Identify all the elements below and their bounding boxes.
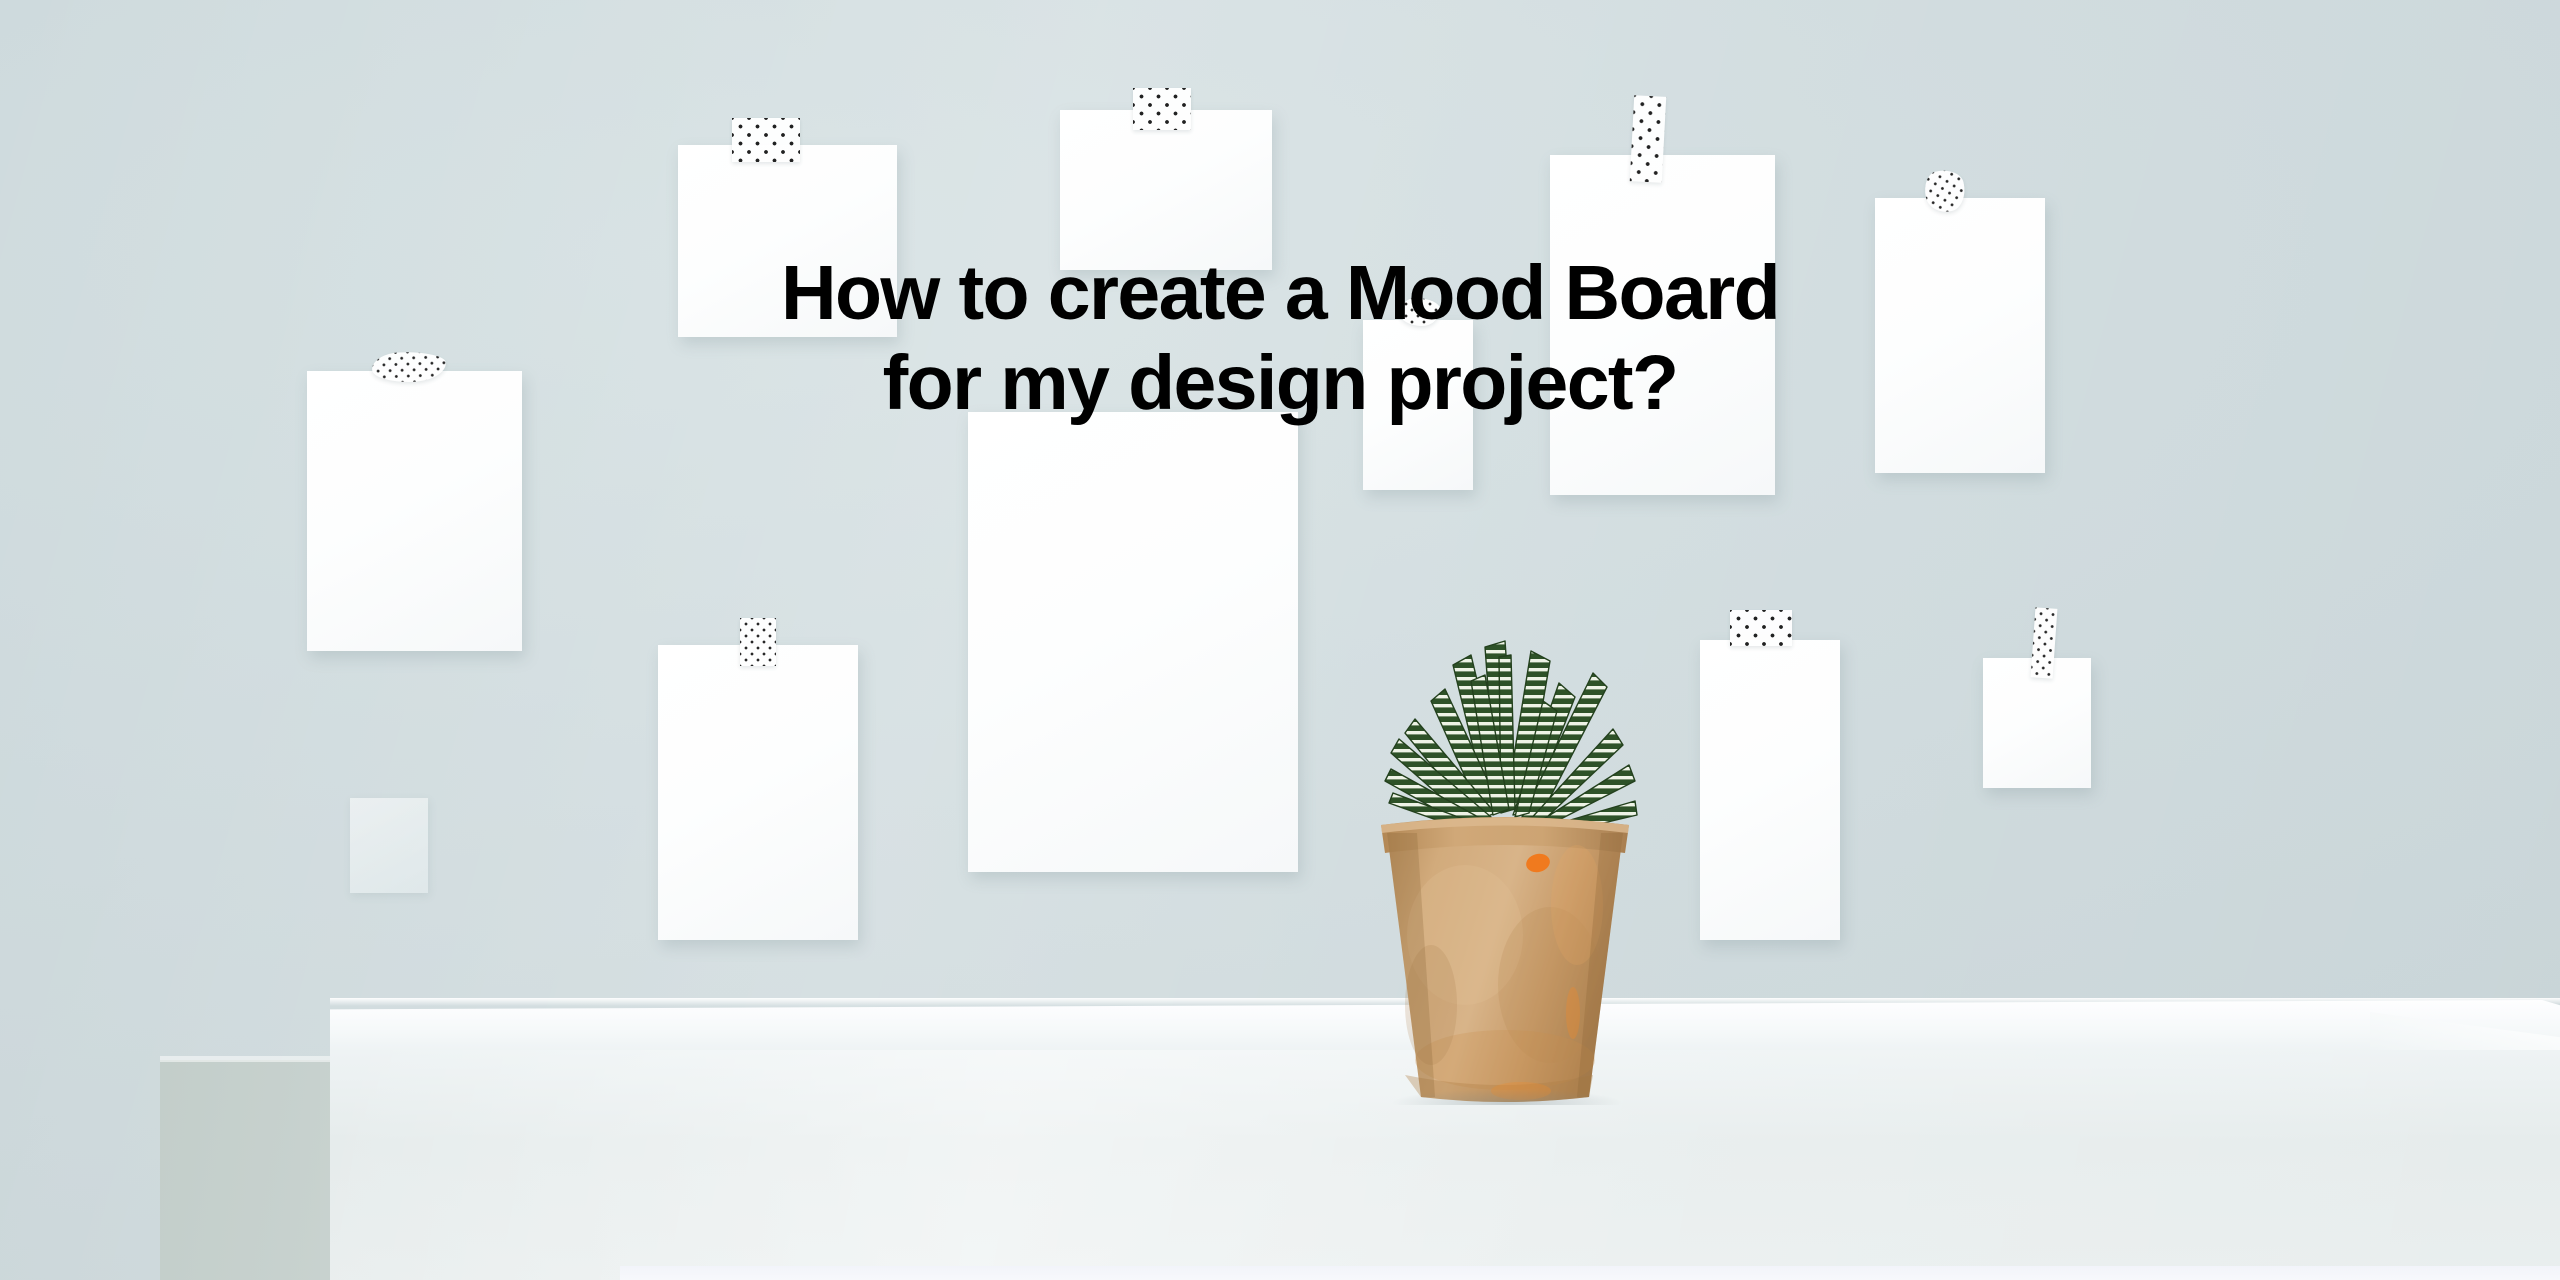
floor-strip (620, 1266, 2560, 1280)
paper-card-top-center[interactable] (1060, 110, 1272, 270)
paper-card-left-tall[interactable] (307, 371, 522, 651)
mood-board-hero-scene: How to create a Mood Board for my design… (0, 0, 2560, 1280)
paper-card-small-mid[interactable] (1363, 320, 1473, 490)
paper-card-center-large[interactable] (968, 412, 1298, 872)
paper-card-ghost-left[interactable] (350, 798, 428, 893)
polka-dot-tape-icon (1730, 610, 1792, 646)
plant-illustration (1345, 605, 1665, 1105)
polka-dot-tape-icon (1133, 88, 1191, 130)
potted-plant (1345, 605, 1665, 1105)
terracotta-pot (1381, 817, 1629, 1102)
paper-card-lower-right[interactable] (1700, 640, 1840, 940)
paper-card-lower-left[interactable] (658, 645, 858, 940)
polka-dot-tape-icon (740, 618, 776, 666)
polka-dot-tape-icon (1630, 95, 1666, 183)
paper-card-tall-right[interactable] (1550, 155, 1775, 495)
paper-card-upper-left[interactable] (678, 145, 897, 337)
paper-card-far-right[interactable] (1875, 198, 2045, 473)
succulent-leaves (1385, 641, 1637, 835)
shelf (0, 950, 2560, 1280)
polka-dot-tape-icon (732, 118, 800, 162)
